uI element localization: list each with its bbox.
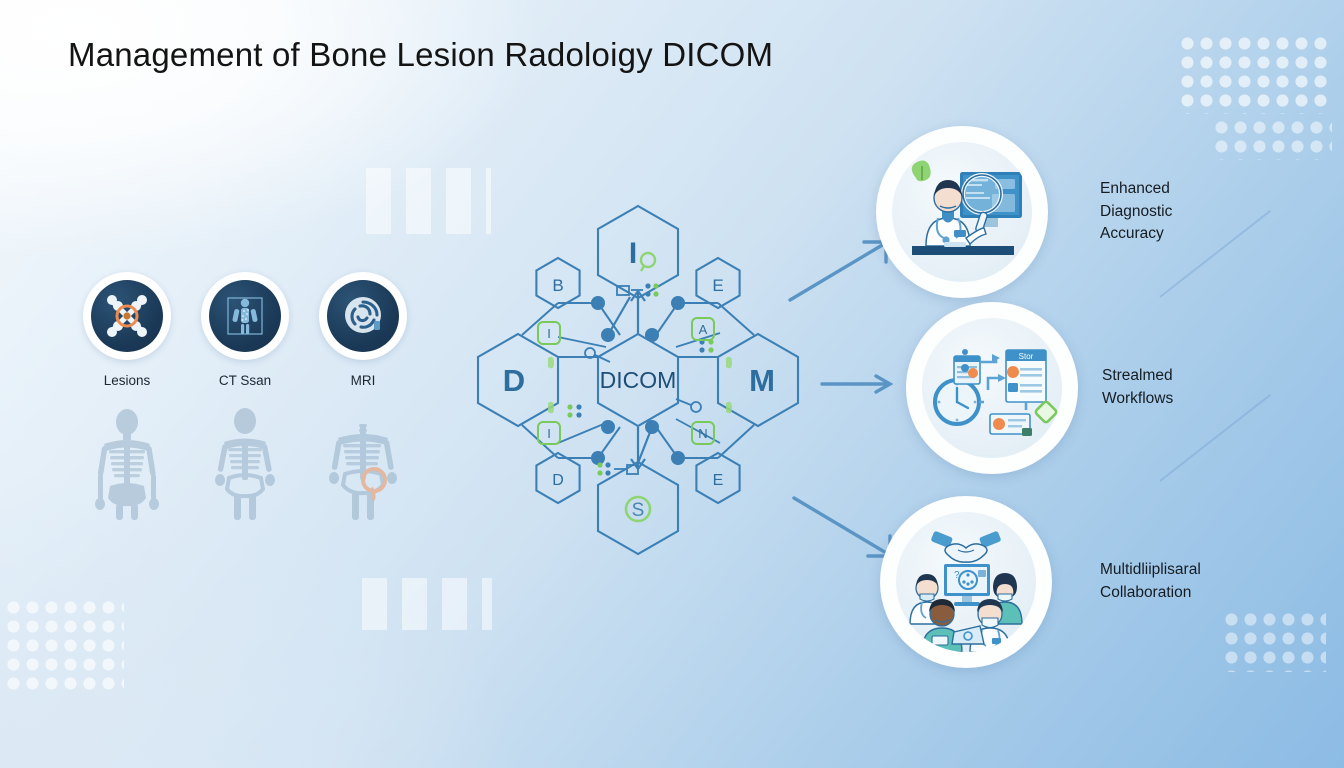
handshake-icon — [930, 531, 1001, 562]
inner-tag-label: I — [547, 426, 551, 441]
hex-label-lower-right: E — [713, 472, 724, 489]
outcome-item-enhanced-diagnostic-accuracy[interactable]: Enhanced Diagnostic Accuracy — [876, 126, 1172, 298]
outcome-label: Enhanced Diagnostic Accuracy — [1100, 178, 1172, 247]
svg-text:Stor: Stor — [1019, 352, 1034, 361]
modality-item-mri[interactable]: MRI — [316, 272, 410, 388]
hex-label-upper-left: B — [552, 276, 563, 295]
outcome-item-multidisciplinary-collaboration[interactable]: ? — [880, 496, 1201, 668]
outcome-label: Multidliiplisaral Collaboration — [1100, 559, 1201, 605]
node-stub-right-icon — [676, 399, 701, 412]
dot-grid-top-right-icon — [1178, 34, 1330, 114]
modality-badge — [201, 272, 289, 360]
modality-label: CT Ssan — [198, 373, 292, 388]
hex-label-left: D — [503, 363, 525, 398]
flow-arrow-down — [631, 427, 652, 469]
doctor-magnifier-monitor-illustration — [892, 142, 1032, 282]
skeleton-front-icon — [80, 408, 174, 520]
hex-green-ring-top-icon — [641, 253, 655, 271]
dot-grid-bottom-left-icon — [4, 598, 124, 696]
outcome-circle — [876, 126, 1048, 298]
outcome-circle: ? — [880, 496, 1052, 668]
medical-team-handshake-illustration: ? — [896, 512, 1036, 652]
inner-tag-label: I — [547, 326, 551, 341]
modality-item-lesions[interactable]: Lesions — [80, 272, 174, 388]
clock-workflow-documents-illustration: Stor — [922, 318, 1062, 458]
modality-item-ct-scan[interactable]: CT Ssan — [198, 272, 292, 388]
ct-body-scan-icon — [209, 280, 281, 352]
faint-text-lines-lower-icon — [362, 578, 492, 630]
dot-grid-bottom-right-icon — [1222, 610, 1326, 672]
modality-label: Lesions — [80, 373, 174, 388]
modality-badge — [83, 272, 171, 360]
modality-badge — [319, 272, 407, 360]
skeleton-lesion-highlight-icon — [316, 408, 410, 520]
hex-label-upper-right: E — [712, 276, 723, 295]
modality-group: Lesions — [80, 272, 410, 388]
outcome-label: Strealmed Workflows — [1102, 365, 1173, 411]
data-glyph-left-icon — [567, 404, 581, 417]
skeleton-pelvis-icon — [198, 408, 292, 520]
page-title: Management of Bone Lesion Radoloigy DICO… — [68, 36, 773, 74]
hex-label-right: M — [749, 363, 775, 398]
svg-text:?: ? — [954, 570, 960, 581]
data-glyph-right-icon — [699, 339, 713, 352]
dot-grid-top-right-secondary-icon — [1212, 118, 1332, 160]
inner-tag-label: A — [699, 322, 708, 337]
mri-spiral-icon — [327, 280, 399, 352]
inner-tag-upper-left: I — [538, 322, 560, 344]
hex-label-bottom: S — [632, 500, 645, 521]
hex-label-top: I — [629, 237, 637, 270]
outcome-circle: Stor — [906, 302, 1078, 474]
modality-label: MRI — [316, 373, 410, 388]
hex-label-lower-left: D — [552, 472, 564, 489]
skeleton-illustration-group — [80, 408, 410, 520]
inner-tag-lower-left: I — [538, 422, 560, 444]
arrow-to-outcome-2 — [820, 372, 896, 396]
crossed-bones-lesion-icon — [91, 280, 163, 352]
diagonal-line-lower-icon — [1159, 394, 1271, 482]
brain-leaf-icon — [912, 160, 931, 181]
hex-center-label: DICOM — [600, 367, 677, 393]
diagonal-line-upper-icon — [1159, 210, 1271, 298]
outcome-item-streamlined-workflows[interactable]: Stor — [906, 302, 1173, 474]
inner-tag-label: N — [698, 426, 707, 441]
hex-satellite-top — [598, 206, 678, 298]
inner-tag-lower-right: N — [692, 422, 714, 444]
